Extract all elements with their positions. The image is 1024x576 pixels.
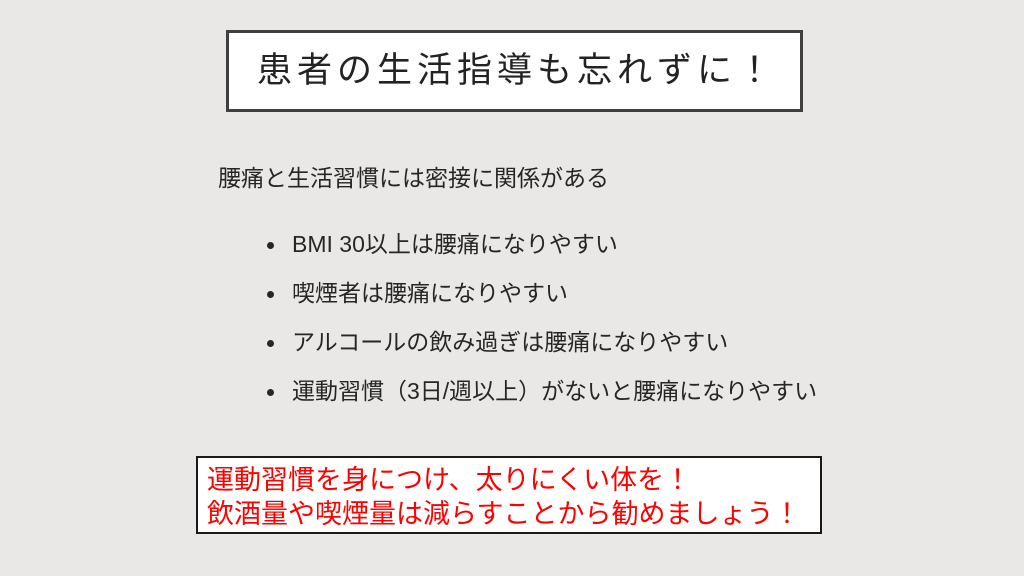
list-item-label: 運動習慣（3日/週以上）がないと腰痛になりやすい [292, 378, 817, 406]
list-item: アルコールの飲み過ぎは腰痛になりやすい [264, 318, 817, 367]
page-title: 患者の生活指導も忘れずに！ [252, 52, 777, 91]
list-item-label: 喫煙者は腰痛になりやすい [292, 280, 568, 308]
slide-canvas: 患者の生活指導も忘れずに！ 腰痛と生活習慣には密接に関係がある BMI 30以上… [0, 0, 1024, 576]
callout-line-2: 飲酒量や喫煙量は減らすことから勧めましょう！ [207, 497, 820, 531]
list-item: 運動習慣（3日/週以上）がないと腰痛になりやすい [264, 367, 817, 416]
list-item: 喫煙者は腰痛になりやすい [264, 269, 817, 318]
list-item-label: BMI 30以上は腰痛になりやすい [292, 231, 618, 259]
bullet-dot-icon [267, 340, 274, 347]
list-item-label: アルコールの飲み過ぎは腰痛になりやすい [292, 329, 728, 357]
callout-box: 運動習慣を身につけ、太りにくい体を！ 飲酒量や喫煙量は減らすことから勧めましょう… [196, 456, 822, 534]
bullet-dot-icon [267, 389, 274, 396]
title-banner: 患者の生活指導も忘れずに！ [226, 30, 803, 112]
lead-statement: 腰痛と生活習慣には密接に関係がある [218, 164, 609, 194]
list-item: BMI 30以上は腰痛になりやすい [264, 220, 817, 269]
bullet-list: BMI 30以上は腰痛になりやすい 喫煙者は腰痛になりやすい アルコールの飲み過… [264, 220, 817, 416]
bullet-dot-icon [267, 242, 274, 249]
bullet-dot-icon [267, 291, 274, 298]
callout-line-1: 運動習慣を身につけ、太りにくい体を！ [207, 463, 820, 497]
